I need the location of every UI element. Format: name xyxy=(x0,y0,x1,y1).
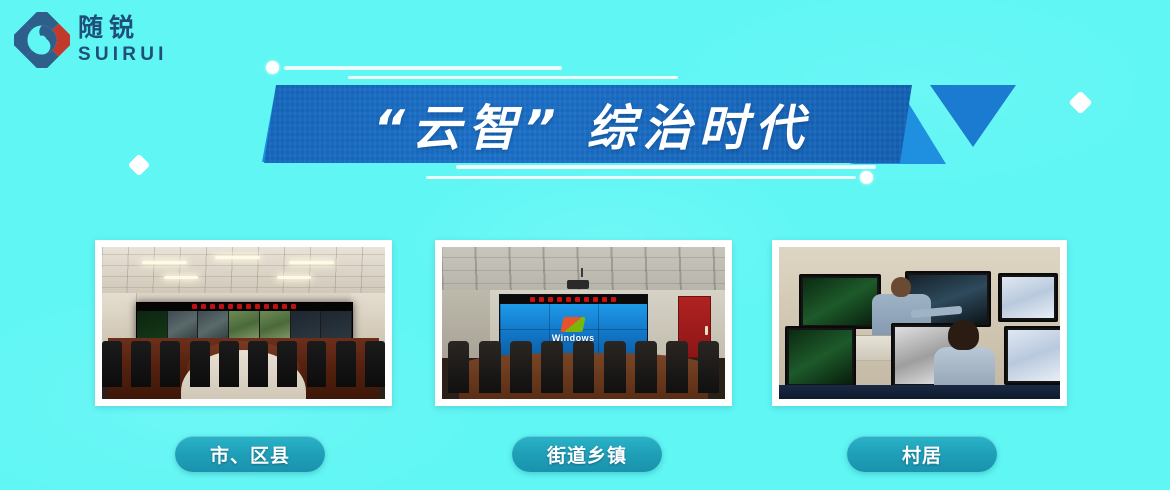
photo-frame xyxy=(772,240,1067,406)
title-banner: “云智” 综治时代 xyxy=(258,52,958,192)
card-label-street-township[interactable]: 街道乡镇 xyxy=(512,436,662,472)
brand-logo[interactable]: 随锐 SUIRUI xyxy=(14,12,168,68)
card-label-city-district[interactable]: 市、区县 xyxy=(175,436,325,472)
banner-bottom-line-1 xyxy=(456,165,876,169)
brand-text: 随锐 SUIRUI xyxy=(78,16,168,64)
windows-logo-label: Windows xyxy=(552,333,595,343)
banner-top-line-1 xyxy=(284,66,562,70)
photo-meeting-room: Windows xyxy=(442,247,725,399)
banner-top-dot-icon xyxy=(266,61,279,74)
white-diamond-left-icon xyxy=(128,154,151,177)
card-city-district[interactable]: 市、区县 xyxy=(95,240,392,406)
photo-frame xyxy=(95,240,392,406)
card-row: 市、区县 xyxy=(0,240,1170,480)
card-village-residence[interactable]: 村居 xyxy=(772,240,1067,406)
pinwheel-diamond-logo-icon xyxy=(14,12,70,68)
photo-monitoring-room xyxy=(779,247,1060,399)
slide-root: 随锐 SUIRUI “云智” 综治时代 xyxy=(0,0,1170,490)
windows-logo-icon: Windows xyxy=(552,317,595,343)
photo-command-hall xyxy=(102,247,385,399)
card-label-village-residence[interactable]: 村居 xyxy=(847,436,997,472)
banner-bottom-dot-icon xyxy=(860,171,873,184)
title-banner-bar: “云智” 综治时代 xyxy=(264,85,912,163)
triangle-accent-down-icon xyxy=(930,85,1016,147)
banner-top-line-2 xyxy=(348,76,678,79)
brand-name-cn: 随锐 xyxy=(78,16,168,41)
brand-name-en: SUIRUI xyxy=(78,45,168,64)
page-title: “云智” 综治时代 xyxy=(264,85,912,163)
banner-bottom-line-2 xyxy=(426,176,856,179)
photo-frame: Windows xyxy=(435,240,732,406)
white-diamond-right-icon xyxy=(1068,90,1092,114)
card-street-township[interactable]: Windows 街道乡镇 xyxy=(435,240,732,406)
